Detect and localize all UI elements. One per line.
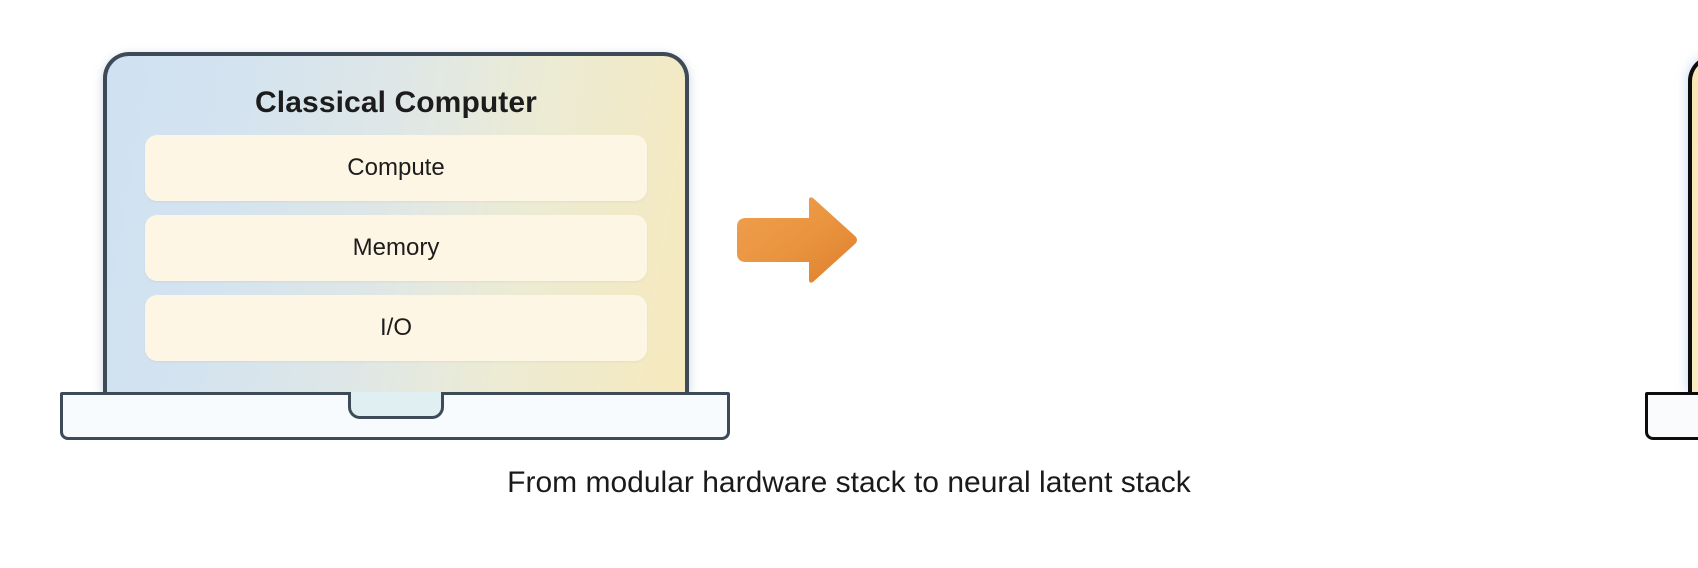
stack-slot-label: Compute bbox=[347, 154, 444, 182]
classical-computer-screen: Classical Computer Compute Memory I/O bbox=[103, 52, 689, 393]
classical-computer-title: Classical Computer bbox=[255, 86, 537, 119]
stack-slot-memory: Memory bbox=[145, 215, 647, 281]
stack-slot-compute: Compute bbox=[145, 135, 647, 201]
diagram-caption: From modular hardware stack to neural la… bbox=[0, 466, 1698, 500]
neural-computer-screen: Neural Computer Latent runtime ht (neura… bbox=[1688, 55, 1698, 393]
diagram-canvas: Classical Computer Compute Memory I/O bbox=[0, 0, 1698, 568]
stack-slot-label: I/O bbox=[380, 314, 412, 342]
neural-laptop-base bbox=[1645, 392, 1698, 440]
classical-laptop-hinge-notch bbox=[348, 392, 444, 419]
neural-computer-laptop: Neural Computer Latent runtime ht (neura… bbox=[800, 0, 1698, 460]
stack-slot-io: I/O bbox=[145, 295, 647, 361]
classical-computer-laptop: Classical Computer Compute Memory I/O bbox=[0, 0, 800, 460]
stack-slot-label: Memory bbox=[353, 234, 440, 262]
